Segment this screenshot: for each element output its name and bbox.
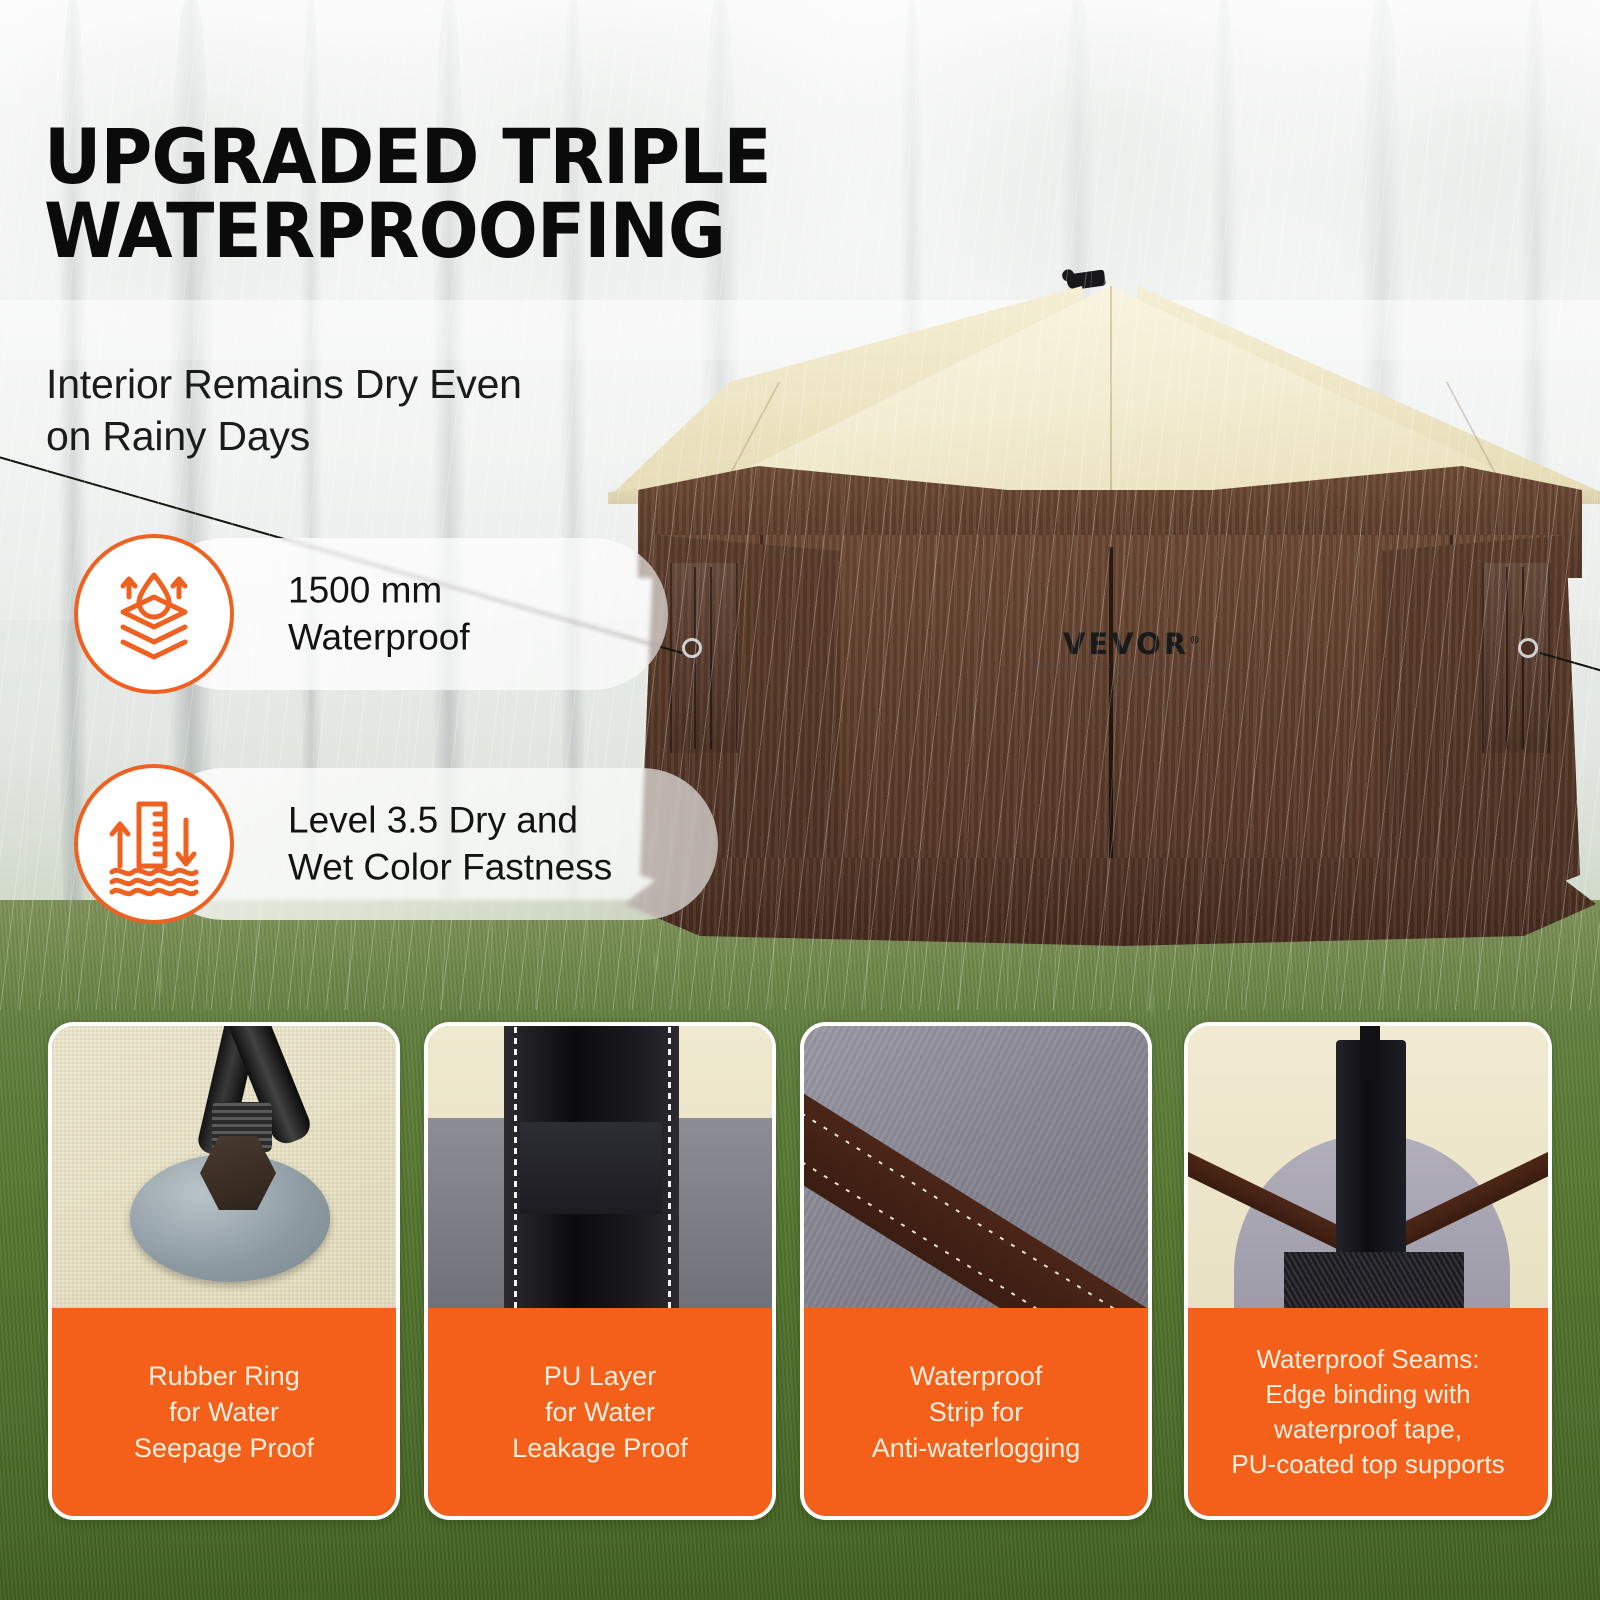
trademark-symbol: ® (1189, 633, 1203, 646)
waterproof-layers-icon (74, 534, 234, 694)
card-caption: Waterproof Strip for Anti-waterlogging (804, 1308, 1148, 1516)
page-subtitle: Interior Remains Dry Even on Rainy Days (46, 358, 686, 463)
waterproof-strip-photo (804, 1026, 1148, 1316)
infographic-canvas: VEVOR® VEVOR TOOL & GREAT PRICE Nothing … (0, 0, 1600, 1600)
pu-layer-seam-photo (428, 1026, 772, 1316)
guy-line-grommet-right (1518, 638, 1538, 658)
detail-cards-row: Rubber Ring for Water Seepage Proof PU L… (0, 1022, 1600, 1542)
feature-label-waterproof: 1500 mm Waterproof (288, 567, 688, 662)
tent-roof (620, 286, 1600, 496)
detail-card-waterproof-seams[interactable]: Waterproof Seams: Edge binding with wate… (1184, 1022, 1552, 1520)
waterproof-seams-photo (1188, 1026, 1548, 1316)
detail-card-rubber-ring[interactable]: Rubber Ring for Water Seepage Proof (48, 1022, 400, 1520)
feature-label-color-fastness: Level 3.5 Dry and Wet Color Fastness (288, 797, 688, 892)
card-caption: Waterproof Seams: Edge binding with wate… (1188, 1308, 1548, 1516)
page-title: UPGRADED TRIPLE WATERPROOFING (44, 120, 779, 267)
card-caption: Rubber Ring for Water Seepage Proof (52, 1308, 396, 1516)
vevor-fine-print: VEVOR TOOL & GREAT PRICE Nothing to Fear… (1028, 664, 1238, 679)
rubber-ring-bolt-photo (52, 1026, 396, 1316)
tent-base-skirt (624, 858, 1596, 946)
detail-card-pu-layer[interactable]: PU Layer for Water Leakage Proof (424, 1022, 776, 1520)
vevor-wordmark: VEVOR (1063, 627, 1189, 661)
card-caption: PU Layer for Water Leakage Proof (428, 1308, 772, 1516)
color-fastness-gauge-icon (74, 764, 234, 924)
detail-card-waterproof-strip[interactable]: Waterproof Strip for Anti-waterlogging (800, 1022, 1152, 1520)
pop-up-gazebo-tent: VEVOR® VEVOR TOOL & GREAT PRICE Nothing … (620, 280, 1600, 940)
vevor-brand-logo: VEVOR® VEVOR TOOL & GREAT PRICE Nothing … (1028, 627, 1238, 679)
